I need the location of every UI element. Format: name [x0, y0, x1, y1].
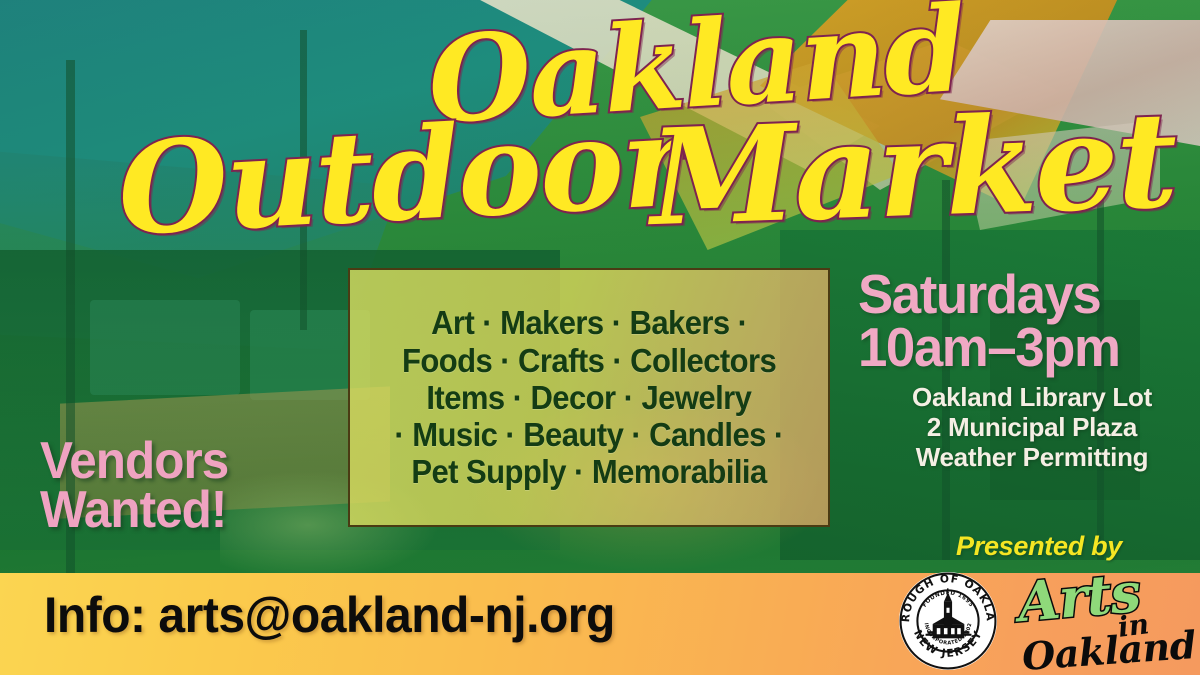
arts-in-oakland-logo: Arts in Oakland	[1012, 570, 1188, 673]
category-line: Pet Supply · Memorabilia	[411, 454, 766, 489]
borough-of-oakland-seal-logo: BOROUGH OF OAKLAND NEW JERSEY FOUNDED 16…	[897, 570, 999, 672]
vendor-categories-box: Art · Makers · Bakers · Foods · Crafts ·…	[348, 268, 830, 527]
market-flyer: Oakland Outdoor Market Art · Makers · Ba…	[0, 0, 1200, 675]
location-venue: Oakland Library Lot	[862, 382, 1200, 412]
category-line: Foods · Crafts · Collectors	[402, 343, 776, 378]
vendors-wanted-line-1: Vendors	[40, 437, 228, 486]
category-line: Art · Makers · Bakers ·	[431, 305, 747, 340]
category-line: Items · Decor · Jewelry	[427, 380, 752, 415]
arts-logo-word-oakland: Oakland	[1021, 626, 1197, 675]
category-line: · Music · Beauty · Candles ·	[394, 417, 783, 452]
location-block: Oakland Library Lot 2 Municipal Plaza We…	[862, 382, 1200, 472]
schedule-hours: 10am–3pm	[858, 321, 1184, 374]
schedule-day: Saturdays	[858, 268, 1184, 321]
vendors-wanted-line-2: Wanted!	[40, 486, 228, 535]
location-note: Weather Permitting	[862, 442, 1200, 472]
contact-email-text[interactable]: Info: arts@oakland-nj.org	[44, 586, 615, 644]
location-address: 2 Municipal Plaza	[862, 412, 1200, 442]
presented-by-label: Presented by	[956, 531, 1122, 562]
vendors-wanted-callout: Vendors Wanted!	[40, 437, 238, 535]
schedule-block: Saturdays 10am–3pm	[858, 268, 1198, 374]
